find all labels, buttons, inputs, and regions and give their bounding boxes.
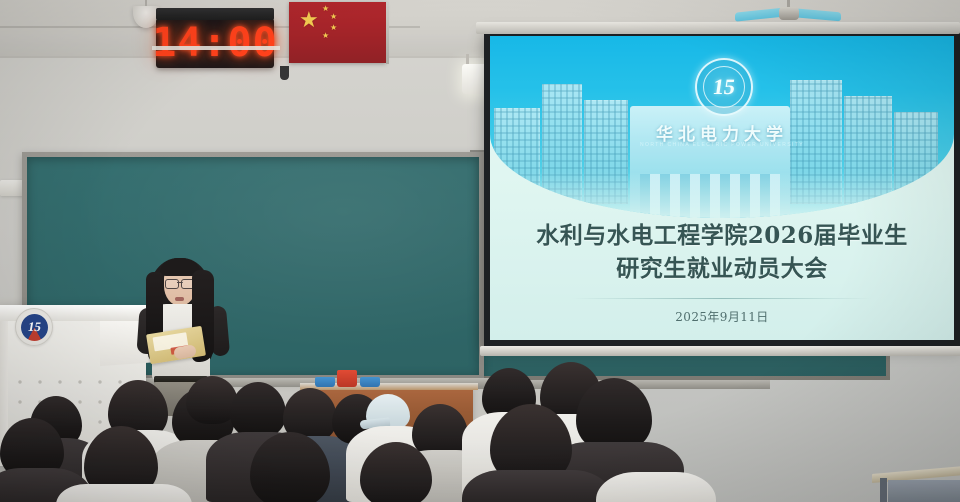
emblem-mark: 15: [711, 74, 737, 100]
slide-title-line-2: 研究生就业动员大会: [490, 253, 954, 286]
campus-building: [584, 100, 628, 204]
podium-university-emblem-icon: 15: [15, 308, 53, 346]
slide-divider: [572, 298, 872, 299]
audience-shoulders: [596, 472, 716, 502]
projection-screen-housing: [476, 22, 960, 34]
flag-large-star: ★: [299, 9, 319, 31]
emblem-inner-ring: 15: [703, 66, 745, 108]
ceiling-sensor-icon: [280, 66, 289, 80]
building-windows: [894, 112, 938, 204]
campus-building: [844, 96, 892, 204]
presenter-mouth: [175, 297, 184, 301]
audience-head: [230, 382, 286, 438]
slide-title-line-1: 水利与水电工程学院2026届毕业生: [490, 220, 954, 253]
pendant-stem: [145, 0, 147, 6]
audience-cap: [366, 394, 410, 430]
flag-small-star: ★: [322, 5, 329, 13]
slide-banner-image: 15 华北电力大学 NORTH CHINA ELECTRIC POWER UNI…: [490, 36, 954, 218]
national-flag-of-china: ★ ★ ★ ★ ★: [289, 2, 386, 63]
building-windows: [844, 96, 892, 204]
presentation-slide: 15 华北电力大学 NORTH CHINA ELECTRIC POWER UNI…: [490, 36, 954, 340]
clock-shelf: [152, 46, 280, 50]
audience-shoulders: [56, 484, 192, 502]
glasses-lens-left: [165, 279, 179, 289]
audience-head: [576, 378, 652, 452]
podium-emblem-ring: 15: [21, 314, 48, 341]
flag-small-star: ★: [322, 32, 329, 40]
flag-mount: [386, 2, 389, 64]
flag-small-star: ★: [330, 24, 337, 32]
flag-small-star: ★: [330, 13, 337, 21]
building-windows: [584, 100, 628, 204]
slide-date: 2025年9月11日: [490, 308, 954, 325]
presenter-glasses-icon: [165, 279, 195, 287]
building-windows: [494, 108, 540, 204]
fan-hub: [779, 7, 799, 20]
campus-building: [494, 108, 540, 204]
university-emblem-icon: 15: [695, 58, 753, 116]
audience-rows: [0, 360, 960, 502]
building-colonnade: [640, 174, 780, 218]
slide-title: 水利与水电工程学院2026届毕业生 研究生就业动员大会: [490, 220, 954, 285]
projection-screen: 15 华北电力大学 NORTH CHINA ELECTRIC POWER UNI…: [484, 30, 960, 346]
clock-bezel: [156, 8, 274, 20]
classroom-photo: 14:00 ★ ★ ★ ★ ★: [0, 0, 960, 502]
campus-building: [894, 112, 938, 204]
led-wall-clock: 14:00: [156, 18, 274, 68]
university-name-en: NORTH CHINA ELECTRIC POWER UNIVERSITY: [640, 142, 804, 148]
audience-shoulders: [462, 470, 612, 502]
projection-screen-bottom-bar: [480, 346, 960, 356]
clock-time: 14:00: [152, 23, 277, 63]
building-windows: [542, 84, 582, 204]
campus-building: [542, 84, 582, 204]
podium-emblem-mark: 15: [26, 319, 42, 335]
